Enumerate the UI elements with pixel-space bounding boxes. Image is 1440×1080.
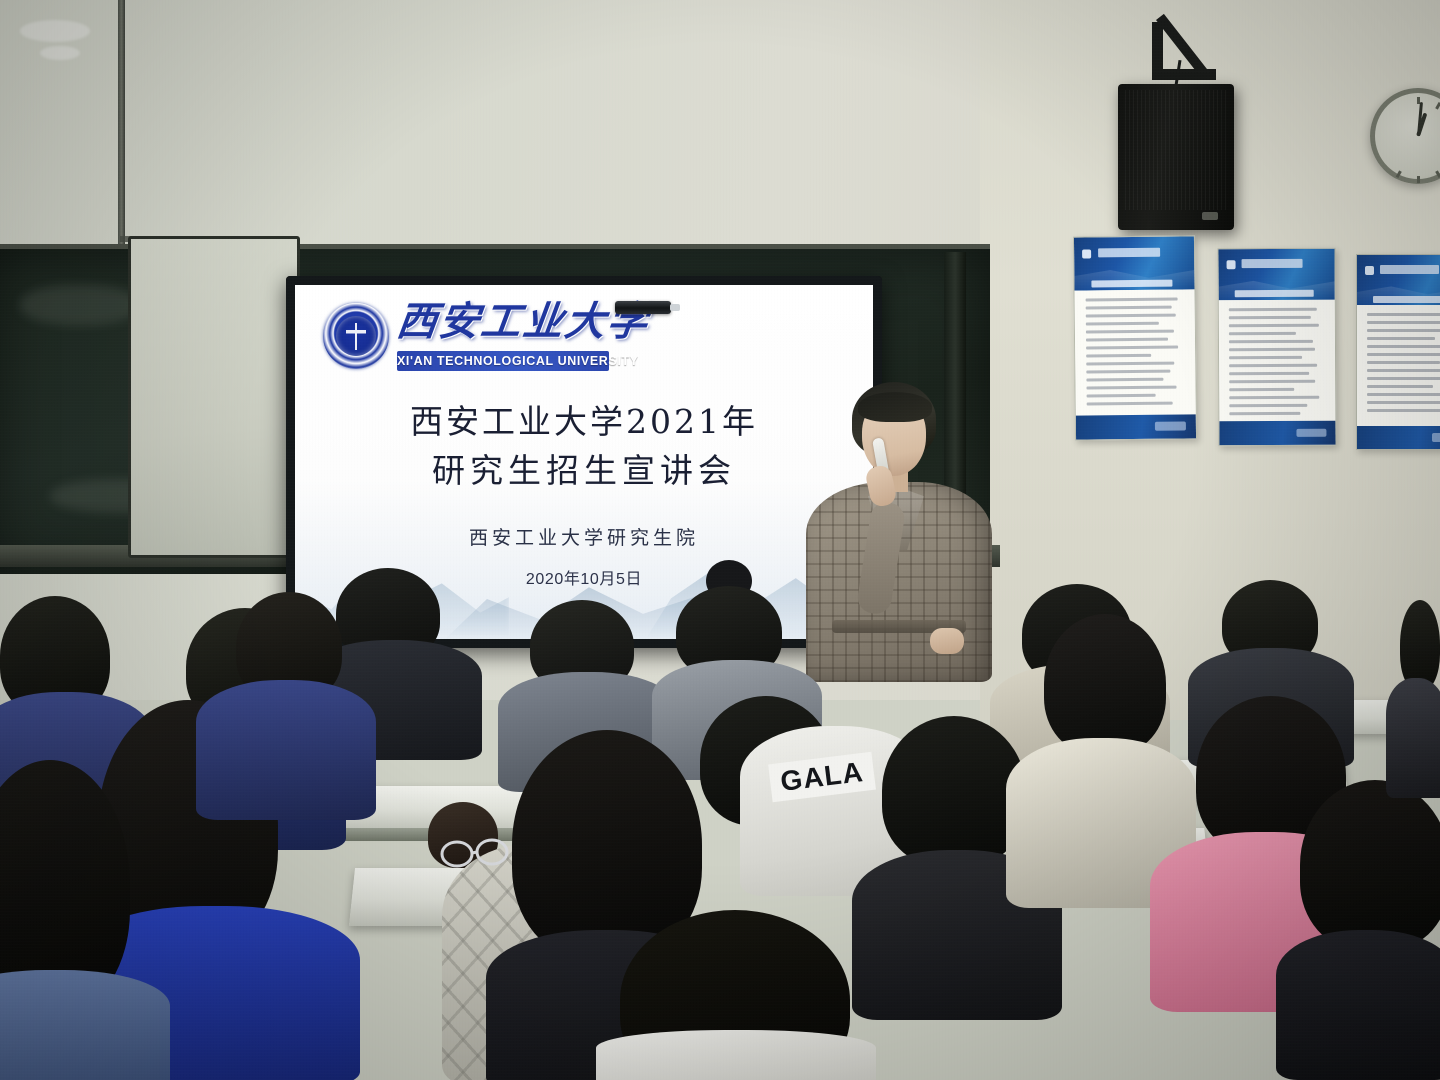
wall-scuff [40,46,80,60]
regulation-poster-1 [1073,235,1197,440]
whiteboard-side-panel [128,236,300,558]
eyeglasses-icon [438,834,512,874]
regulation-poster-2 [1217,248,1336,447]
speaker-grille [1125,90,1227,210]
speaker-bracket [1152,22,1216,80]
wall-scuff [20,20,90,42]
regulation-poster-3 [1356,254,1440,450]
presenter [806,382,992,682]
lecture-hall-photo: 西安工业大学 XI'AN TECHNOLOGICAL UNIVERSITY 西安… [0,0,1440,1080]
presenter-fringe [858,392,932,422]
wall-seam [118,0,125,246]
presenter-hand-lower [930,628,964,654]
wall-speaker [1118,84,1234,230]
